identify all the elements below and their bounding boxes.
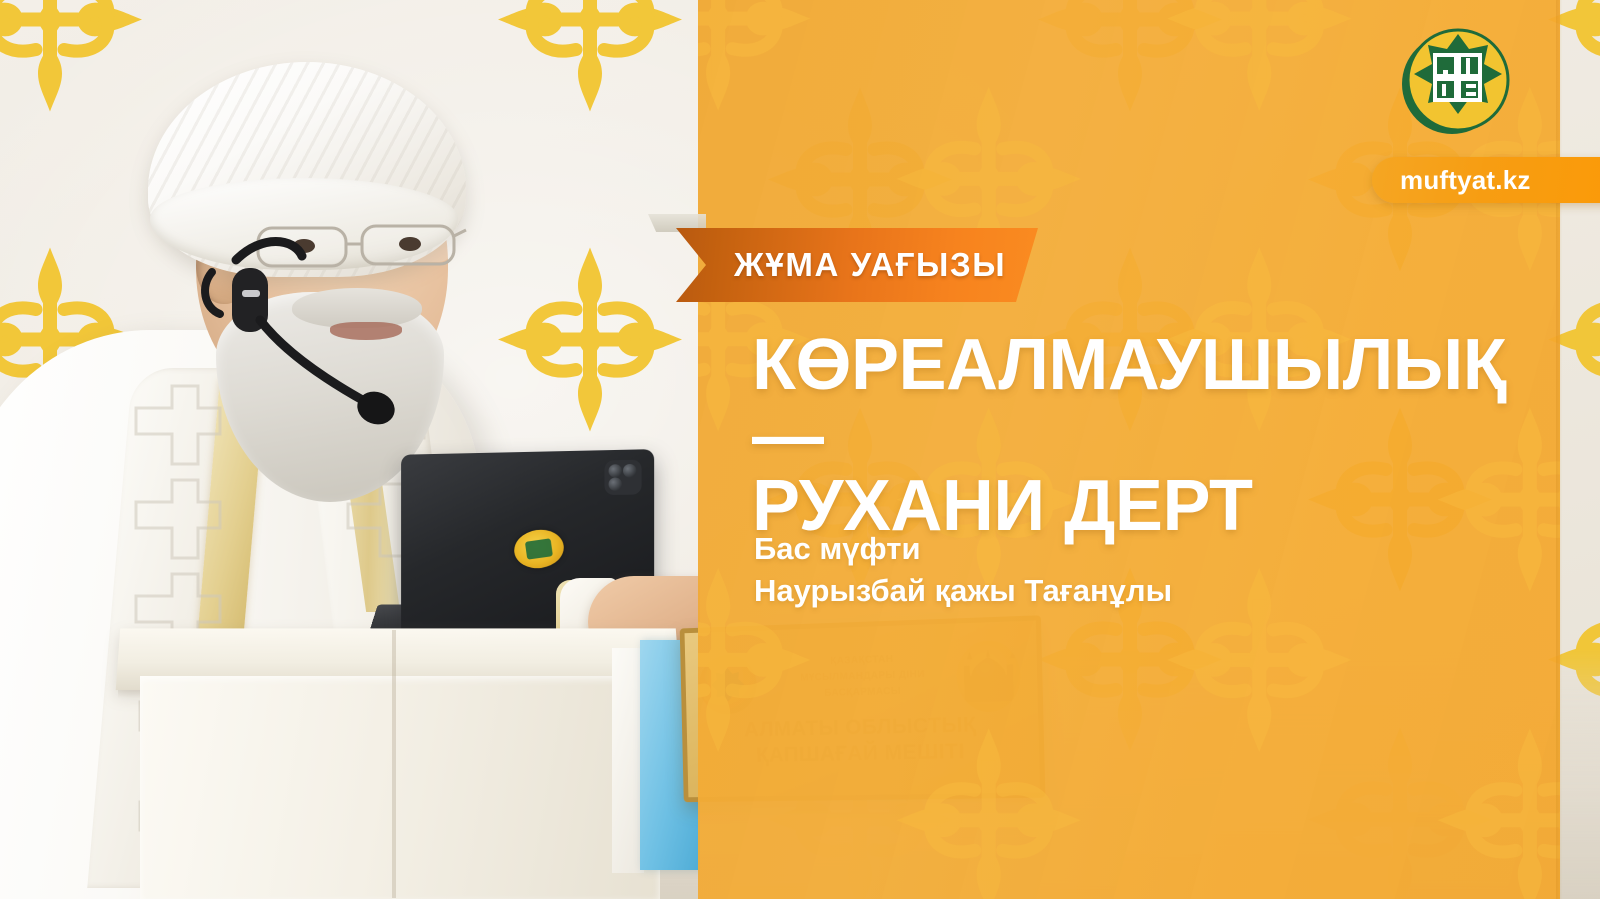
speaker-photo (0, 0, 700, 899)
qmdb-logo-icon (1396, 22, 1514, 140)
podium-front (140, 676, 660, 899)
speaker-credit: Бас мүфти Наурызбай қажы Тағанұлы (754, 528, 1454, 612)
overlay-right-edge (1556, 0, 1562, 899)
qmdb-sticker-icon (512, 527, 566, 572)
podium-edge (392, 630, 396, 898)
site-url-badge[interactable]: muftyat.kz (1372, 157, 1600, 203)
banner-canvas: ҚАЗАҚСТАН МҰСЫЛМАНДАРЫ ДІНИ БАСҚАРМАСЫ А… (0, 0, 1600, 899)
ribbon-body: ЖҰМА УАҒЫЗЫ (648, 228, 1038, 302)
speaker-role: Бас мүфти (754, 528, 1454, 570)
ribbon-label: ЖҰМА УАҒЫЗЫ (734, 246, 1006, 284)
title-line-1: КӨРЕАЛМАУШЫЛЫҚ — (752, 325, 1506, 476)
page-title: КӨРЕАЛМАУШЫЛЫҚ — РУХАНИ ДЕРТ (752, 330, 1522, 542)
camera-module-icon (604, 460, 641, 495)
category-ribbon: ЖҰМА УАҒЫЗЫ (648, 228, 1038, 302)
site-url-label: muftyat.kz (1400, 165, 1531, 196)
speaker-name: Наурызбай қажы Тағанұлы (754, 570, 1454, 612)
